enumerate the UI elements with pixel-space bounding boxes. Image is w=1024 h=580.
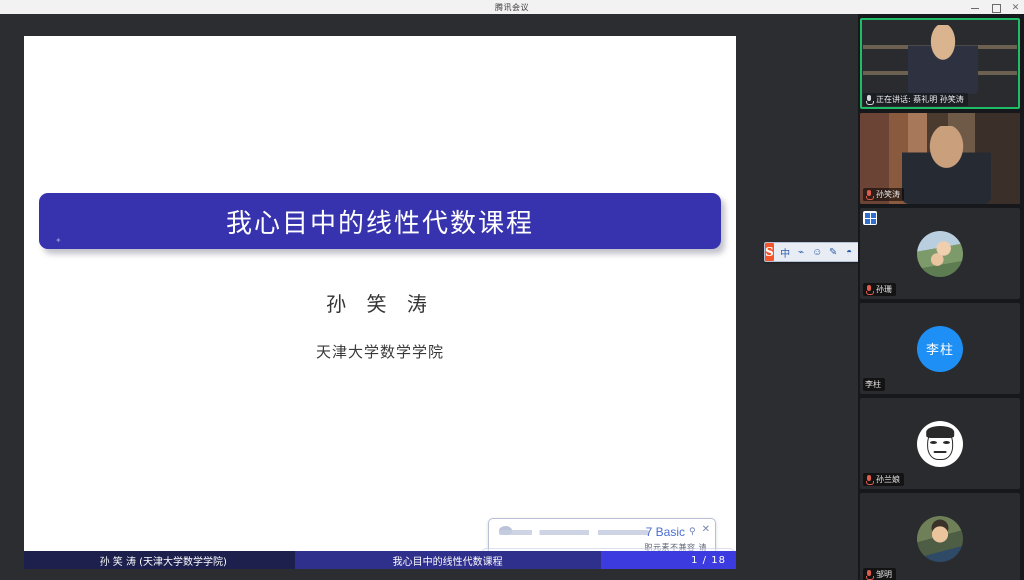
meeting-window: 腾讯会议 ✕ 我心目中的线性代数课程 ✦ 孙 笑 涛 天津大学数学学院 7 Ba xyxy=(0,0,1024,580)
participant-tile[interactable]: 正在讲话: 蔡礼明 孙笑涛 xyxy=(860,18,1020,109)
popup-ghost-text xyxy=(499,530,649,535)
window-controls: ✕ xyxy=(971,0,1020,14)
microphone-muted-icon xyxy=(865,285,873,295)
participant-label: 邹明 xyxy=(863,568,896,580)
participant-label: 孙笑涛 xyxy=(863,188,904,201)
participant-name: 正在讲话: 蔡礼明 孙笑涛 xyxy=(876,94,964,105)
search-icon[interactable]: ⚲ xyxy=(689,527,698,536)
close-icon[interactable]: ✕ xyxy=(702,525,710,535)
screen-share-icon xyxy=(863,211,877,225)
pen-icon[interactable]: ✎ xyxy=(827,245,840,259)
slide-affiliation: 天津大学数学学院 xyxy=(24,341,736,362)
keyboard-icon[interactable]: ⌁ xyxy=(795,245,808,259)
popup-label: 7 Basic xyxy=(646,525,685,539)
participant-name: 邹明 xyxy=(876,569,892,580)
slide-author: 孙 笑 涛 xyxy=(24,288,736,317)
slide-title-banner: 我心目中的线性代数课程 ✦ xyxy=(39,193,721,249)
avatar-mouth xyxy=(934,451,947,453)
avatar-hair xyxy=(926,426,954,438)
participant-rail[interactable]: 正在讲话: 蔡礼明 孙笑涛 孙笑涛 孙珊 李柱 李柱 xyxy=(858,14,1024,580)
banner-bullet-icon: ✦ xyxy=(55,237,62,244)
participant-label: 孙珊 xyxy=(863,283,896,296)
participant-label: 孙兰娘 xyxy=(863,473,904,486)
ime-items: 中 ⌁ ☺ ✎ ◓ xyxy=(774,245,872,259)
participant-name: 李柱 xyxy=(865,379,881,390)
footline-title: 我心目中的线性代数课程 xyxy=(295,551,601,569)
close-button[interactable]: ✕ xyxy=(1011,3,1020,12)
shared-screen-stage: 我心目中的线性代数课程 ✦ 孙 笑 涛 天津大学数学学院 7 Basic ⚲ ✕… xyxy=(0,14,858,580)
presentation-slide: 我心目中的线性代数课程 ✦ 孙 笑 涛 天津大学数学学院 7 Basic ⚲ ✕… xyxy=(24,36,736,569)
microphone-icon[interactable]: ◓ xyxy=(843,245,856,259)
emoji-icon[interactable]: ☺ xyxy=(811,245,824,259)
slide-footline: 孙 笑 涛 (天津大学数学学院) 我心目中的线性代数课程 1 / 18 xyxy=(24,551,736,569)
participant-name: 孙珊 xyxy=(876,284,892,295)
sogou-logo-icon[interactable]: S xyxy=(765,243,774,261)
participant-tile[interactable]: 孙笑涛 xyxy=(860,113,1020,204)
avatar: 李柱 xyxy=(917,326,963,372)
video-person xyxy=(908,25,978,94)
participant-tile[interactable]: 李柱 李柱 xyxy=(860,303,1020,394)
footline-page-number: 1 / 18 xyxy=(601,551,736,569)
microphone-icon xyxy=(865,95,873,105)
participant-tile[interactable]: 孙兰娘 xyxy=(860,398,1020,489)
maximize-button[interactable] xyxy=(991,3,1000,12)
minimize-button[interactable] xyxy=(971,3,980,12)
video-person xyxy=(902,126,992,204)
avatar xyxy=(917,231,963,277)
window-titlebar: 腾讯会议 ✕ xyxy=(0,0,1024,14)
participant-name: 孙兰娘 xyxy=(876,474,900,485)
avatar xyxy=(917,516,963,562)
microphone-muted-icon xyxy=(865,475,873,485)
window-title: 腾讯会议 xyxy=(495,2,529,13)
slide-title: 我心目中的线性代数课程 xyxy=(226,203,534,240)
participant-label: 正在讲话: 蔡礼明 孙笑涛 xyxy=(863,93,968,106)
participant-tile[interactable]: 邹明 xyxy=(860,493,1020,580)
participant-tile[interactable]: 孙珊 xyxy=(860,208,1020,299)
microphone-muted-icon xyxy=(865,190,873,200)
avatar xyxy=(917,421,963,467)
language-mode-icon[interactable]: 中 xyxy=(779,245,792,259)
microphone-muted-icon xyxy=(865,570,873,580)
footline-author: 孙 笑 涛 (天津大学数学学院) xyxy=(24,551,295,569)
participant-label: 李柱 xyxy=(863,378,885,391)
participant-name: 孙笑涛 xyxy=(876,189,900,200)
ime-toolbar[interactable]: S 中 ⌁ ☺ ✎ ◓ xyxy=(764,242,872,262)
